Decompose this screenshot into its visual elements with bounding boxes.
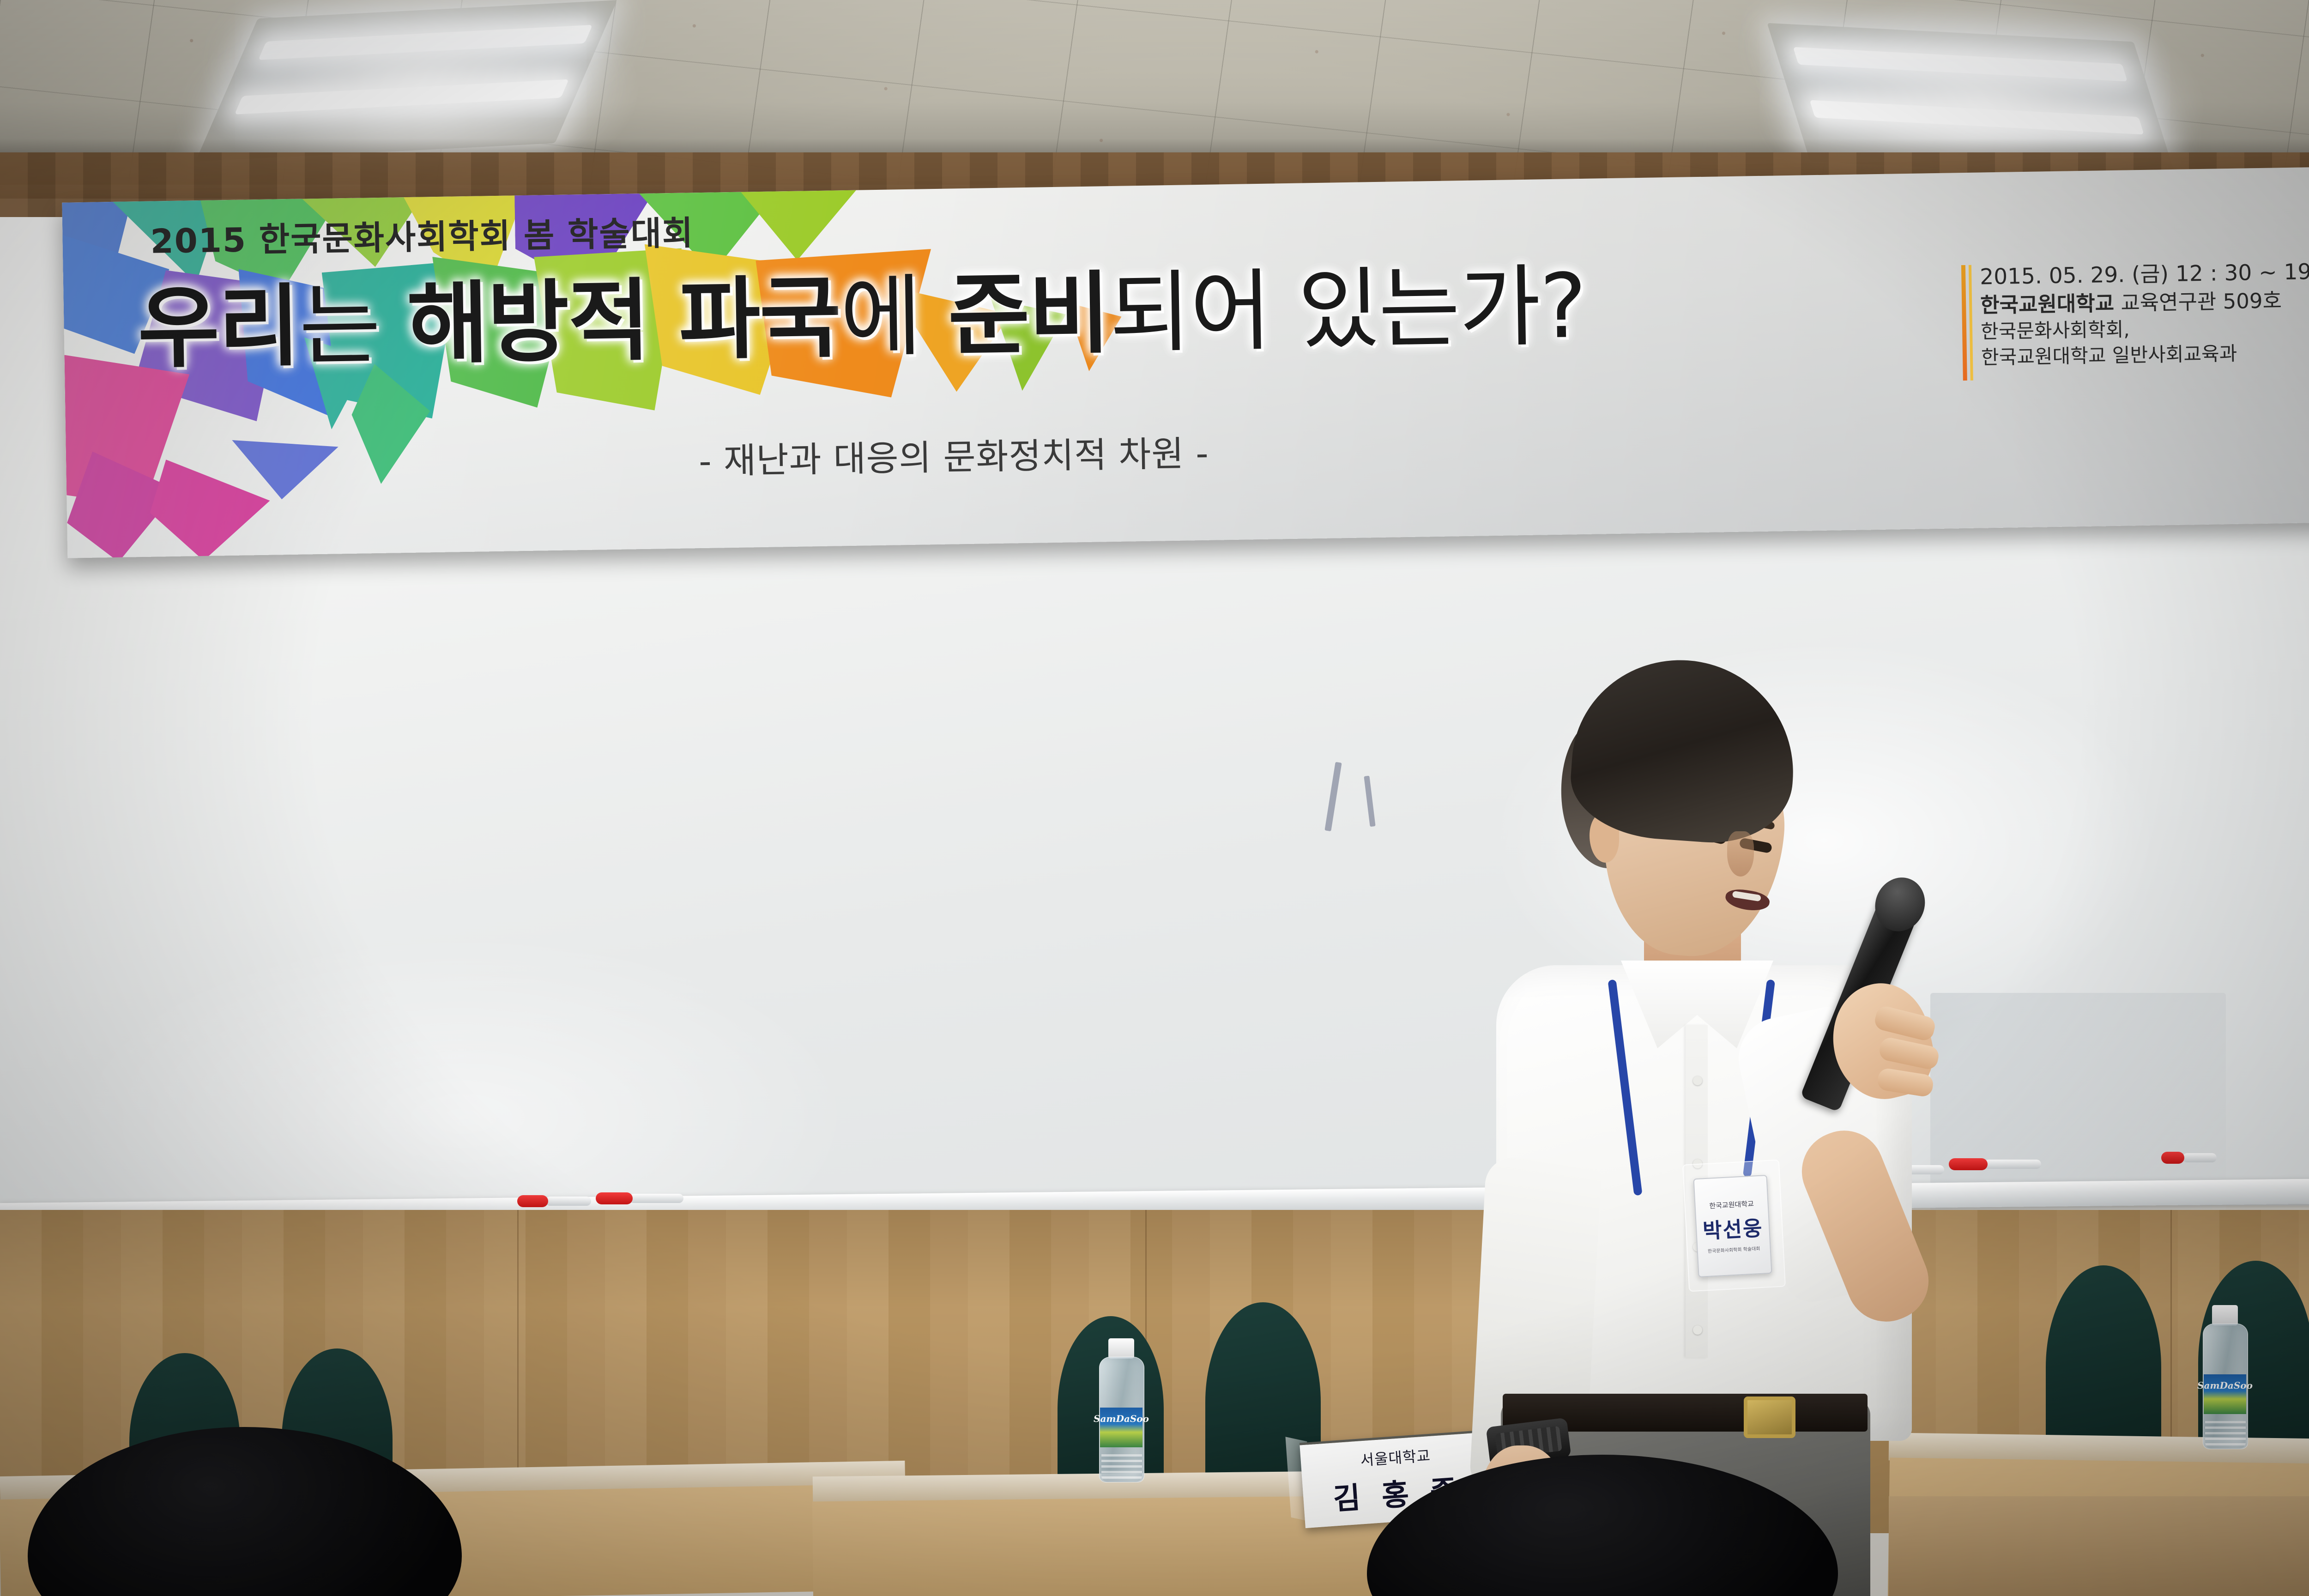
banner-title-run: 우리 (137, 275, 300, 381)
speaker: 한국교원대학교 박선웅 한국문화사회학회 학술대회 (1469, 660, 2046, 1596)
marker-barrel (545, 1197, 591, 1206)
bottle-brand-text: SamDaSoo (2197, 1380, 2253, 1391)
banner-venue-university: 한국교원대학교 (1980, 291, 2115, 318)
banner-venue: 한국교원대학교 교육연구관 509호 (1980, 286, 2309, 319)
red-marker[interactable] (517, 1195, 591, 1207)
nose (1727, 831, 1754, 877)
banner-main-title: 우리는 해방적 파국에 준비되어 있는가? (137, 234, 1587, 385)
whiteboard-residual-mark (1364, 776, 1375, 827)
banner-title-run: 되어 있는가? (1109, 255, 1587, 365)
banner-datetime: 2015. 05. 29. (금) 12 : 30 ~ 19 : 00 (1980, 258, 2309, 291)
fluorescent-tube (1793, 47, 2128, 82)
red-marker[interactable] (596, 1192, 683, 1204)
shirt-button (1693, 1325, 1702, 1335)
marker-barrel (2182, 1153, 2217, 1162)
hair (1567, 653, 1801, 848)
conference-photo-scene: 2015 한국문화사회학회 봄 학술대회 우리는 해방적 파국에 준비되어 있는… (0, 0, 2309, 1596)
bottle-label: SamDaSoo (1100, 1408, 1142, 1447)
bottle-cap (1108, 1338, 1134, 1359)
fluorescent-tube (1809, 100, 2144, 135)
marker-barrel (629, 1194, 683, 1203)
badge-name: 박선웅 (1702, 1211, 1763, 1244)
bottle-cap (2212, 1305, 2238, 1325)
belt-buckle (1744, 1396, 1795, 1438)
whiteboard-residual-mark (1324, 762, 1342, 831)
microphone-head (1867, 870, 1933, 939)
banner-title-run: 준비 (947, 262, 1110, 368)
bottle-label: SamDaSoo (2204, 1374, 2246, 1414)
marker-cap (517, 1195, 548, 1207)
shirt-button (1693, 1076, 1702, 1085)
bottle-brand-text: SamDaSoo (1094, 1413, 1149, 1424)
badge-organization: 한국교원대학교 (1709, 1198, 1754, 1210)
red-marker[interactable] (2161, 1152, 2217, 1164)
bottle-ribs (2205, 1421, 2246, 1449)
fluorescent-tube (235, 79, 569, 115)
name-badge: 한국교원대학교 박선웅 한국문화사회학회 학술대회 (1693, 1175, 1772, 1277)
nameplate-organization: 서울대학교 (1360, 1444, 1431, 1470)
marker-cap (2161, 1152, 2184, 1164)
banner-venue-room: 교육연구관 509호 (2114, 288, 2282, 315)
conference-banner: 2015 한국문화사회학회 봄 학술대회 우리는 해방적 파국에 준비되어 있는… (62, 167, 2309, 558)
fluorescent-tube (258, 25, 592, 60)
teeth (1732, 891, 1761, 902)
banner-subtitle: - 재난과 대응의 문화정치적 차원 - (698, 425, 1209, 484)
banner-host-2: 한국교원대학교 일반사회교육과 (1981, 339, 2309, 370)
ceiling-light-fixture-left (195, 0, 617, 161)
badge-footer: 한국문화사회학회 학술대회 (1708, 1244, 1760, 1254)
bottle-ribs (1101, 1454, 1142, 1482)
banner-title-run: 해방적 파국 (406, 266, 841, 376)
marker-cap (596, 1192, 633, 1204)
banner-title-run: 에 (840, 265, 949, 370)
banner-info-block: 2015. 05. 29. (금) 12 : 30 ~ 19 : 00 한국교원… (1980, 258, 2309, 370)
banner-title-run: 는 (298, 273, 408, 378)
